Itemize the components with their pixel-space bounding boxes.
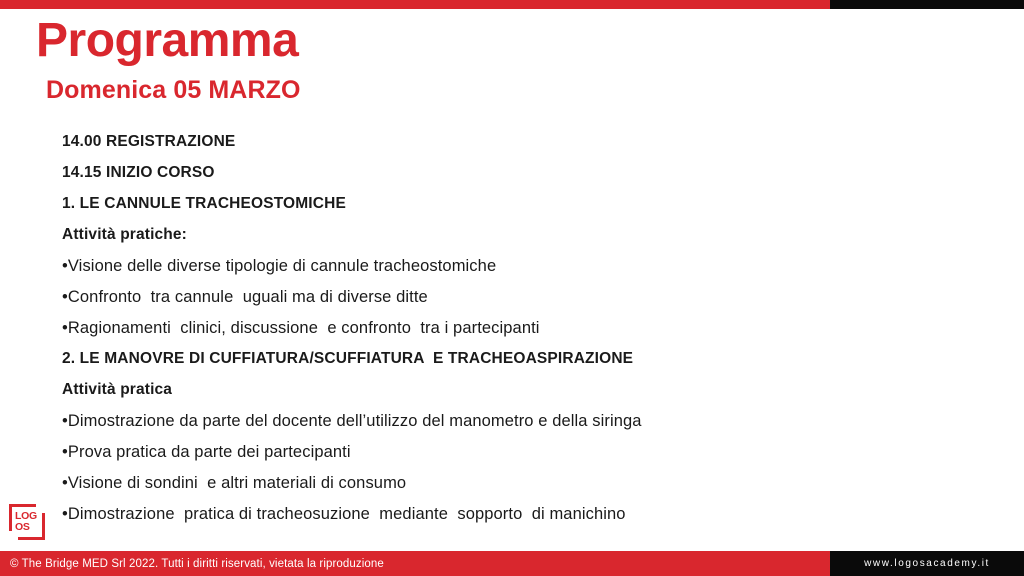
logos-academy-logo: LOG OS [9,504,45,540]
page-subtitle: Domenica 05 MARZO [46,75,301,105]
top-accent-bar [0,0,1024,9]
program-line: 14.00 REGISTRAZIONE [62,134,962,150]
top-accent-bar-black [830,0,1024,9]
program-line: Attività pratica [62,382,962,398]
program-bullet: •Visione di sondini e altri materiali di… [62,475,962,492]
footer-website-url[interactable]: www.logosacademy.it [864,558,990,569]
logo-frame-top [9,504,36,507]
top-accent-bar-red [0,0,830,9]
program-line: 2. LE MANOVRE DI CUFFIATURA/SCUFFIATURA … [62,351,962,367]
footer-bar-red: © The Bridge MED Srl 2022. Tutti i dirit… [0,551,830,576]
program-line: 1. LE CANNULE TRACHEOSTOMICHE [62,196,962,212]
footer-copyright: © The Bridge MED Srl 2022. Tutti i dirit… [0,558,384,570]
page-title: Programma [36,14,298,68]
program-bullet: •Prova pratica da parte dei partecipanti [62,444,962,461]
program-bullet: •Confronto tra cannule uguali ma di dive… [62,289,962,306]
logo-frame-bottom [18,537,45,540]
footer-bar-black: www.logosacademy.it [830,551,1024,576]
slide-root: Programma Domenica 05 MARZO 14.00 REGIST… [0,0,1024,576]
program-line: Attività pratiche: [62,227,962,243]
program-line: 14.15 INIZIO CORSO [62,165,962,181]
program-list: 14.00 REGISTRAZIONE 14.15 INIZIO CORSO 1… [62,134,962,537]
footer-bar: © The Bridge MED Srl 2022. Tutti i dirit… [0,551,1024,576]
logo-frame-right [42,513,45,540]
logo-wordmark: LOG OS [15,510,39,534]
program-bullet: •Dimostrazione da parte del docente dell… [62,413,962,430]
program-bullet: •Dimostrazione pratica di tracheosuzione… [62,506,962,523]
logo-frame-left [9,504,12,531]
program-bullet: •Visione delle diverse tipologie di cann… [62,258,962,275]
program-bullet: •Ragionamenti clinici, discussione e con… [62,320,962,337]
logo-wordmark-line2: OS [15,522,39,533]
